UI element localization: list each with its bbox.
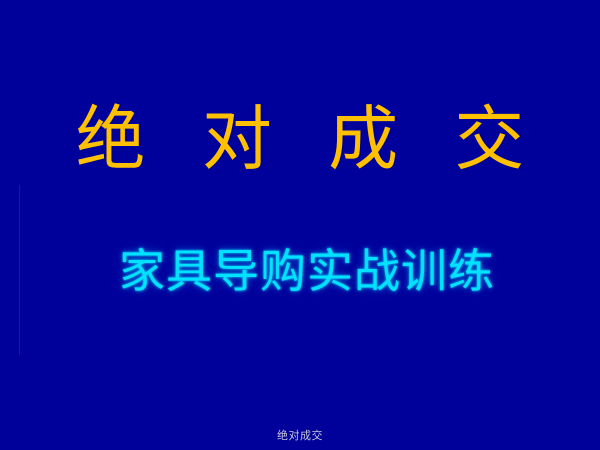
footer-label: 绝对成交 [277,429,323,443]
slide-title-block: 绝 对 成 交 [0,98,600,180]
slide-footer-block: 绝对成交 [0,424,600,443]
presentation-slide: 绝 对 成 交 家具导购实战训练 绝对成交 [0,0,600,450]
slide-subtitle-block: 家具导购实战训练 [0,243,600,299]
page-subtitle: 家具导购实战训练 [105,243,495,299]
page-title: 绝 对 成 交 [59,98,542,180]
